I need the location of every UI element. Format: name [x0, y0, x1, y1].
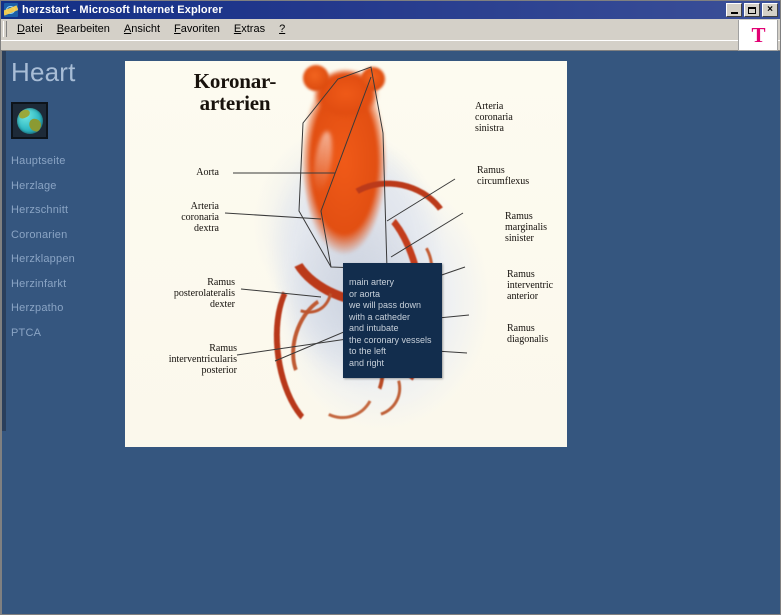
- tooltip-line-3: we will pass down: [349, 300, 442, 312]
- label-aorta-line1: Aorta: [133, 167, 219, 178]
- anatomical-illustration: Koronar- arterien Aorta Arteria coronari…: [125, 61, 567, 447]
- sidebar-rail: [2, 51, 6, 431]
- label-acd-line3: dextra: [125, 223, 219, 234]
- label-rms-line3: sinister: [505, 233, 547, 244]
- aorta-branch-left-shape: [303, 65, 329, 91]
- window-title: herzstart - Microsoft Internet Explorer: [22, 4, 223, 16]
- label-acs-line2: coronaria: [475, 112, 513, 123]
- tooltip-line-4: with a catheder: [349, 312, 442, 324]
- close-button[interactable]: ×: [762, 3, 778, 17]
- menu-item-bearbeiten-rest: earbeiten: [64, 23, 110, 35]
- maximize-restore-button[interactable]: [744, 3, 760, 17]
- coronary-arteries-imagemap[interactable]: Koronar- arterien Aorta Arteria coronari…: [125, 61, 567, 447]
- sidebar: Heart Hauptseite Herzlage Herzschnitt Co…: [2, 51, 109, 431]
- label-rivp-line2: interventricularis: [125, 354, 237, 365]
- label-acs-line1: Arteria: [475, 101, 513, 112]
- menu-item-datei[interactable]: Datei: [10, 21, 50, 37]
- figure-title: Koronar- arterien: [170, 70, 300, 114]
- label-rcx-line2: circumflexus: [477, 176, 529, 187]
- aorta-branch-right-shape: [361, 67, 385, 91]
- label-riva-line2: interventric: [507, 280, 553, 291]
- telekom-t-icon: T: [751, 25, 764, 46]
- menu-item-extras[interactable]: Extras: [227, 21, 272, 37]
- globe-icon[interactable]: [11, 102, 48, 139]
- sidebar-item-herzschnitt[interactable]: Herzschnitt: [11, 204, 106, 216]
- figure-title-line2: arterien: [170, 92, 300, 114]
- menu-drag-handle[interactable]: [3, 21, 7, 37]
- menu-item-bearbeiten[interactable]: Bearbeiten: [50, 21, 117, 37]
- tooltip-line-8: and right: [349, 358, 442, 370]
- minimize-button[interactable]: [726, 3, 742, 17]
- label-rms-line2: marginalis: [505, 222, 547, 233]
- menu-item-favoriten[interactable]: Favoriten: [167, 21, 227, 37]
- hotspot-tooltip: main artery or aorta we will pass down w…: [343, 263, 442, 378]
- sidebar-nav: Hauptseite Herzlage Herzschnitt Coronari…: [11, 155, 106, 351]
- label-ramus-diagonalis: Ramus diagonalis: [507, 323, 548, 345]
- tooltip-line-5: and intubate: [349, 323, 442, 335]
- label-ramus-posterolateralis-dexter: Ramus posterolateralis dexter: [125, 277, 235, 310]
- sidebar-item-herzklappen[interactable]: Herzklappen: [11, 253, 106, 265]
- label-rpd-line2: posterolateralis: [125, 288, 235, 299]
- tooltip-line-7: to the left: [349, 346, 442, 358]
- menu-item-help-label: ?: [279, 23, 285, 35]
- label-riva-line1: Ramus: [507, 269, 553, 280]
- label-rd-line2: diagonalis: [507, 334, 548, 345]
- label-ramus-interventricularis-posterior: Ramus interventricularis posterior: [125, 343, 237, 376]
- sidebar-item-ptca[interactable]: PTCA: [11, 327, 106, 339]
- label-ramus-marginalis-sinister: Ramus marginalis sinister: [505, 211, 547, 244]
- menu-item-ansicht[interactable]: Ansicht: [117, 21, 167, 37]
- menu-item-ansicht-rest: nsicht: [131, 23, 160, 35]
- globe-glyph: [17, 108, 43, 134]
- toolbar-seam: [1, 40, 780, 50]
- sidebar-item-hauptseite[interactable]: Hauptseite: [11, 155, 106, 167]
- label-arteria-coronaria-dextra: Arteria coronaria dextra: [125, 201, 219, 234]
- browser-window: herzstart - Microsoft Internet Explorer …: [0, 0, 781, 615]
- label-rd-line1: Ramus: [507, 323, 548, 334]
- minimize-icon: [731, 12, 738, 14]
- menu-bar: Datei Bearbeiten Ansicht Favoriten Extra…: [1, 19, 780, 40]
- page-title: Heart: [11, 59, 76, 85]
- label-riva-line3: anterior: [507, 291, 553, 302]
- window-controls: ×: [726, 3, 778, 17]
- sidebar-item-herzinfarkt[interactable]: Herzinfarkt: [11, 278, 106, 290]
- close-icon: ×: [767, 5, 773, 15]
- tooltip-line-6: the coronary vessels: [349, 335, 442, 347]
- sidebar-item-herzpatho[interactable]: Herzpatho: [11, 302, 106, 314]
- label-rivp-line3: posterior: [125, 365, 237, 376]
- page-content: Heart Hauptseite Herzlage Herzschnitt Co…: [1, 50, 780, 614]
- restore-icon: [748, 7, 756, 14]
- menu-item-help[interactable]: ?: [272, 21, 292, 37]
- label-rcx-line1: Ramus: [477, 165, 529, 176]
- menu-item-datei-rest: atei: [25, 23, 43, 35]
- title-bar: herzstart - Microsoft Internet Explorer …: [1, 1, 780, 19]
- tooltip-line-2: or aorta: [349, 289, 442, 301]
- label-acs-line3: sinistra: [475, 123, 513, 134]
- title-bar-left: herzstart - Microsoft Internet Explorer: [4, 3, 726, 17]
- tooltip-line-1: main artery: [349, 277, 442, 289]
- sidebar-item-herzlage[interactable]: Herzlage: [11, 180, 106, 192]
- label-rms-line1: Ramus: [505, 211, 547, 222]
- label-acd-line2: coronaria: [125, 212, 219, 223]
- internet-explorer-icon: [4, 3, 18, 17]
- label-rpd-line3: dexter: [125, 299, 235, 310]
- menu-item-extras-rest: xtras: [241, 23, 265, 35]
- label-ramus-circumflexus: Ramus circumflexus: [477, 165, 529, 187]
- label-acd-line1: Arteria: [125, 201, 219, 212]
- label-rivp-line1: Ramus: [125, 343, 237, 354]
- figure-title-line1: Koronar-: [170, 70, 300, 92]
- sidebar-item-coronarien[interactable]: Coronarien: [11, 229, 106, 241]
- label-rpd-line1: Ramus: [125, 277, 235, 288]
- label-ramus-interventricularis-anterior: Ramus interventric anterior: [507, 269, 553, 302]
- telekom-logo: T: [738, 20, 778, 51]
- menu-item-favoriten-rest: avoriten: [181, 23, 220, 35]
- label-arteria-coronaria-sinistra: Arteria coronaria sinistra: [475, 101, 513, 134]
- label-aorta: Aorta: [133, 167, 219, 178]
